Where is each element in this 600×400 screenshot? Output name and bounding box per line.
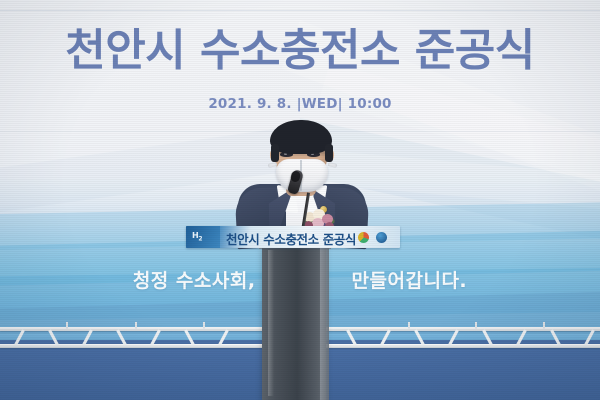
podium-side-edge — [320, 246, 329, 400]
slogan-left-text: 청정 수소사회, — [133, 270, 256, 292]
sideburn-left — [271, 144, 279, 162]
podium-highlight — [268, 250, 274, 396]
truss-post — [66, 322, 68, 329]
truss-post — [203, 322, 205, 329]
truss-post — [543, 322, 545, 329]
backdrop-date: 2021. 9. 8. |WED| 10:00 — [0, 96, 600, 112]
city-emblem-logo-icon — [358, 232, 369, 243]
backdrop-seam — [0, 10, 600, 11]
sideburn-right — [325, 144, 333, 162]
truss-post — [135, 322, 137, 329]
photo-canvas: 천안시 수소충전소 준공식 2021. 9. 8. |WED| 10:00 청정… — [0, 0, 600, 400]
hair — [270, 120, 332, 154]
backdrop-title: 천안시 수소충전소 준공식 — [0, 14, 600, 78]
truss-post — [408, 322, 410, 329]
truss-post — [475, 322, 477, 329]
podium-banner: H2 천안시 수소충전소 준공식 — [186, 226, 400, 248]
mask-ear-loop-right — [328, 162, 338, 168]
slogan-right-text: 만들어갑니다. — [352, 270, 468, 292]
podium-banner-text: 천안시 수소충전소 준공식 — [226, 229, 356, 248]
corporate-emblem-logo-icon — [376, 232, 387, 243]
hydrogen-h2-icon: H2 — [192, 231, 202, 243]
